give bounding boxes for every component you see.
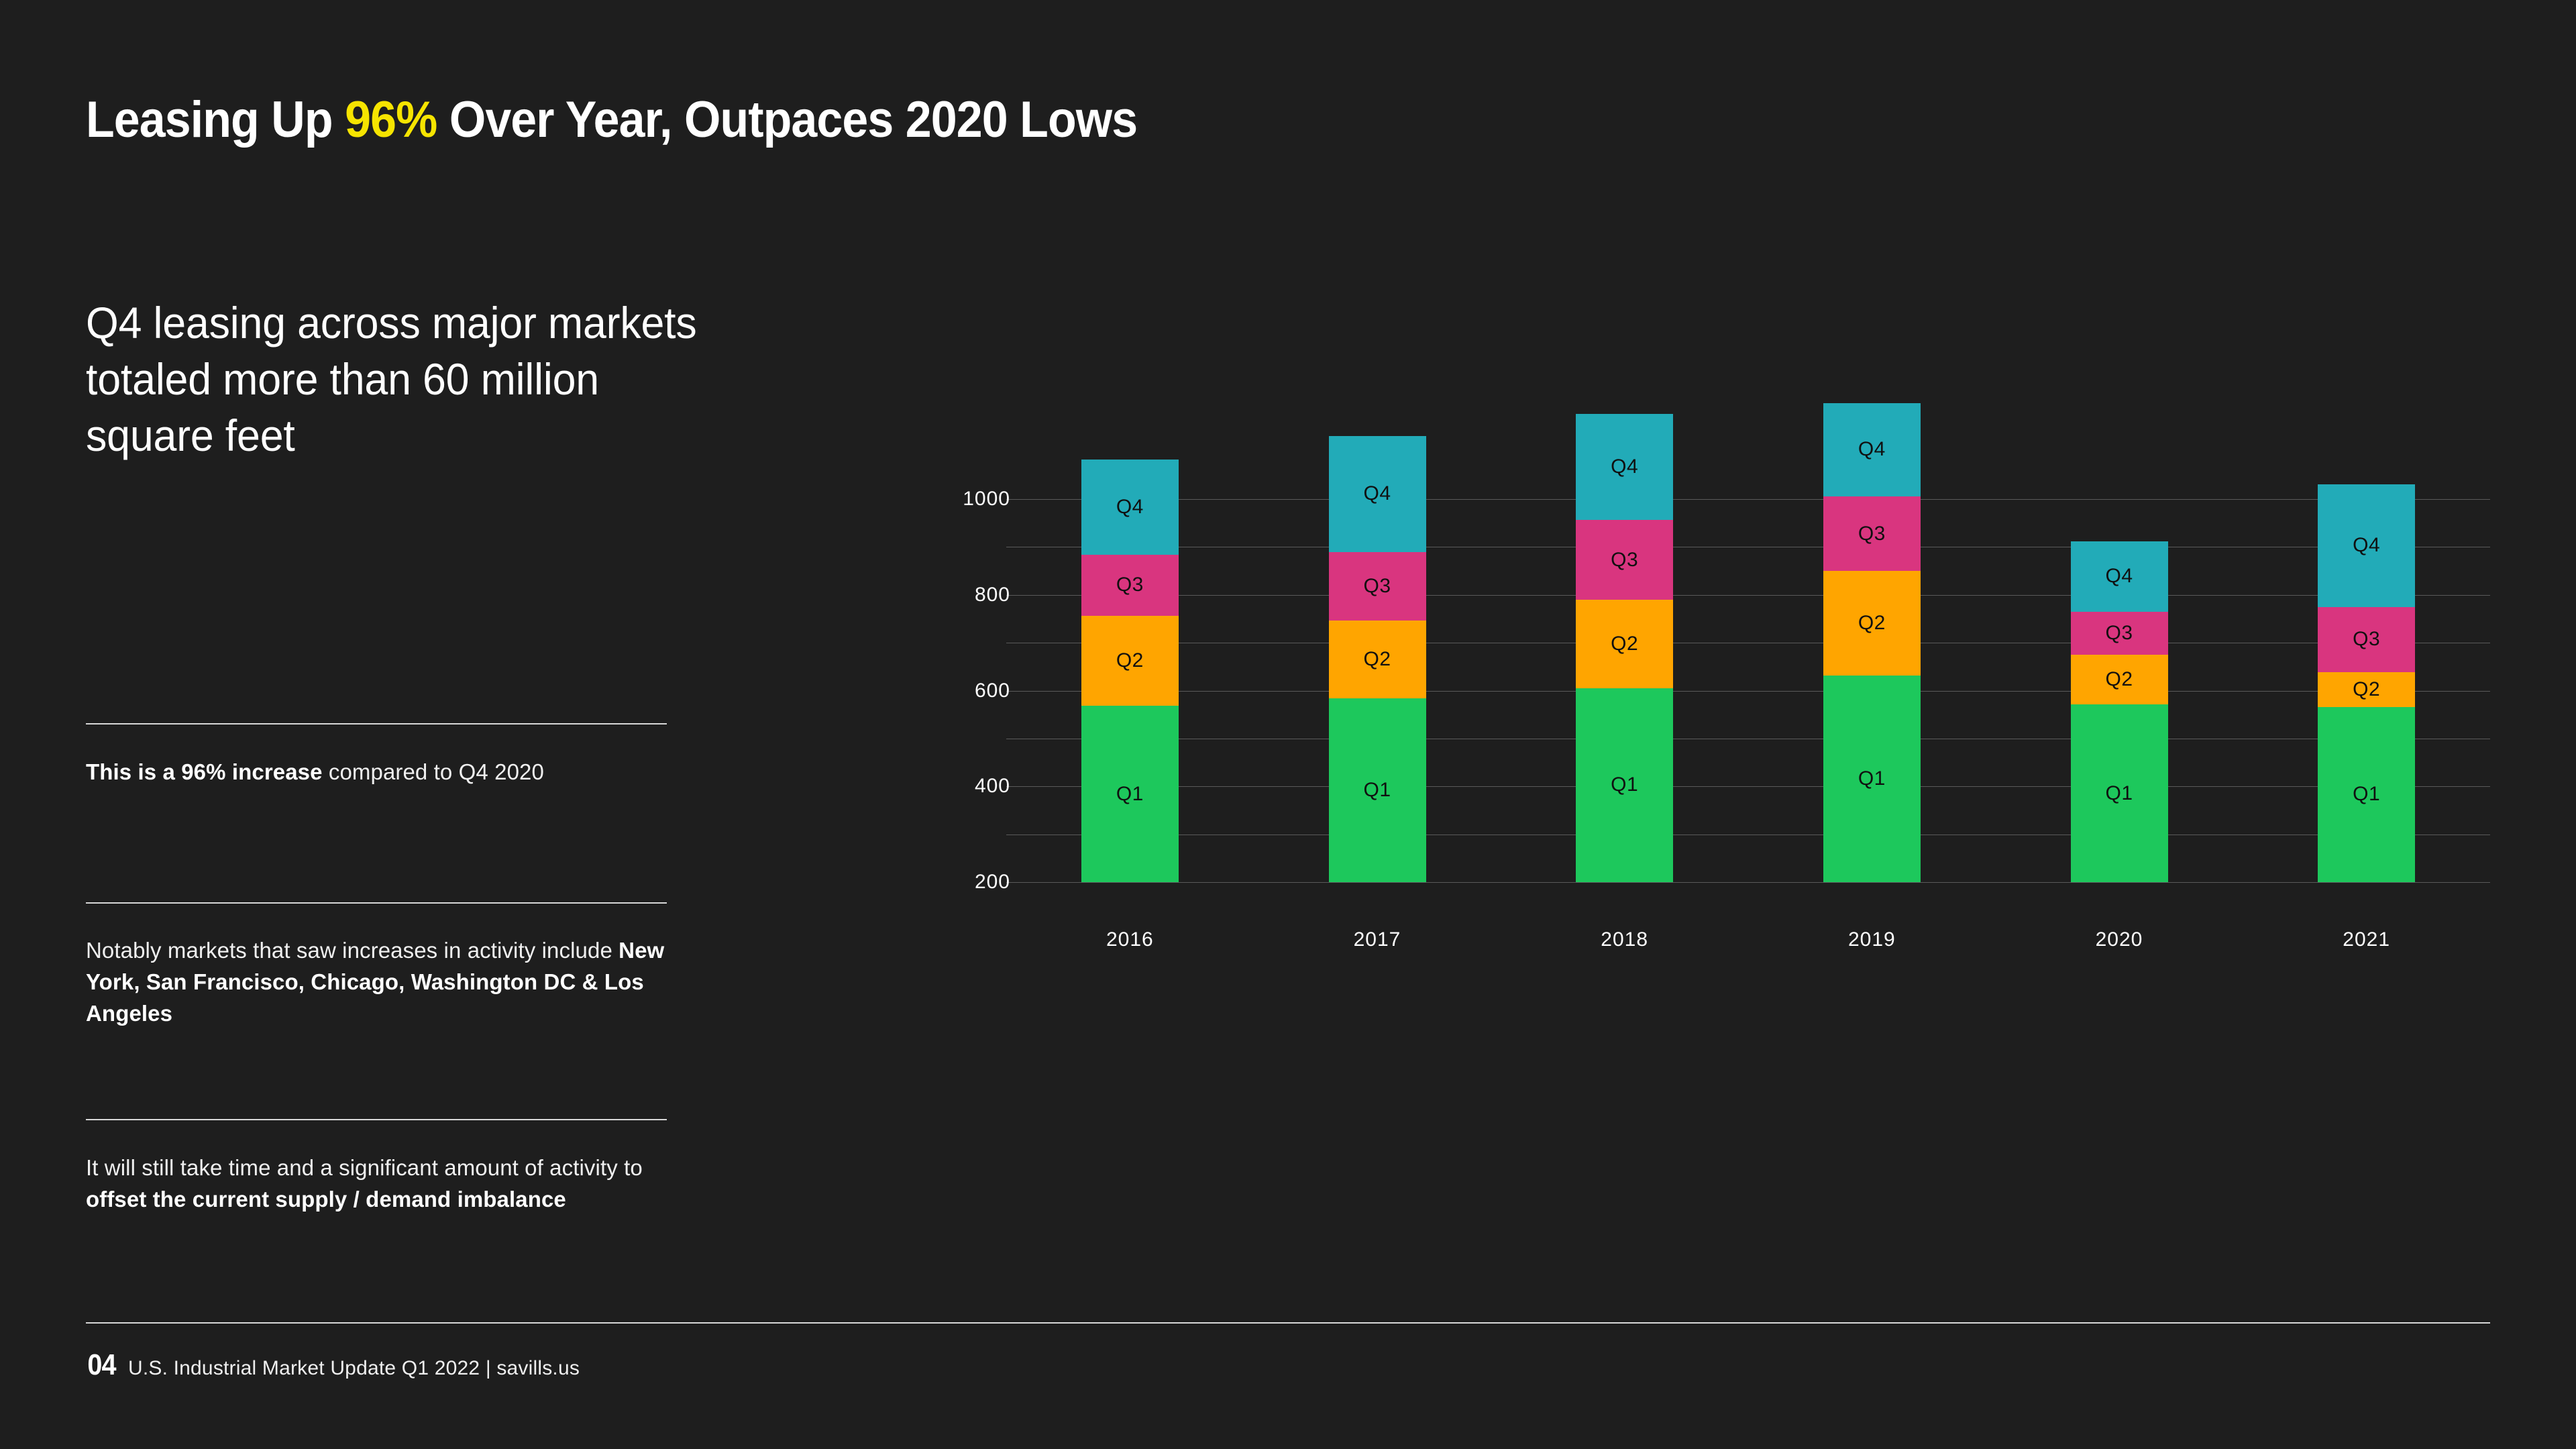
stacked-bar-chart: Q1Q2Q3Q42016Q1Q2Q3Q42017Q1Q2Q3Q42018Q1Q2… (892, 470, 2502, 1275)
page-title: Leasing Up 96% Over Year, Outpaces 2020 … (86, 91, 1137, 149)
slide-canvas: Leasing Up 96% Over Year, Outpaces 2020 … (0, 0, 2576, 1449)
bar-segment-2018-Q2[interactable]: Q2 (1576, 600, 1673, 688)
note-3-bold: offset the current supply / demand imbal… (86, 1187, 566, 1212)
y-axis-tick-400: 400 (910, 775, 1010, 798)
bar-group-2017[interactable]: Q1Q2Q3Q4 (1329, 499, 1426, 882)
note-1-text: This is a 96% increase compared to Q4 20… (86, 757, 676, 788)
bar-segment-2018-Q1[interactable]: Q1 (1576, 688, 1673, 882)
bar-segment-2020-Q4[interactable]: Q4 (2071, 541, 2168, 612)
footer-divider (86, 1322, 2490, 1324)
bar-segment-2017-Q2[interactable]: Q2 (1329, 621, 1426, 698)
left-column: Q4 leasing across major markets totaled … (86, 295, 757, 464)
bar-segment-2019-Q2[interactable]: Q2 (1823, 571, 1921, 676)
x-axis-label-2016: 2016 (1081, 928, 1179, 951)
page-number: 04 (87, 1348, 115, 1382)
bar-segment-2017-Q3[interactable]: Q3 (1329, 552, 1426, 621)
bar-segment-2020-Q3[interactable]: Q3 (2071, 612, 2168, 655)
bar-group-2020[interactable]: Q1Q2Q3Q4 (2071, 499, 2168, 882)
note-1: This is a 96% increase compared to Q4 20… (86, 757, 676, 788)
x-axis-label-2019: 2019 (1823, 928, 1921, 951)
bar-segment-2016-Q3[interactable]: Q3 (1081, 555, 1179, 616)
y-axis-tick-600: 600 (910, 680, 1010, 702)
bar-segment-2020-Q2[interactable]: Q2 (2071, 655, 2168, 704)
note-2: Notably markets that saw increases in ac… (86, 935, 676, 1030)
note-3-plain: It will still take time and a significan… (86, 1155, 643, 1180)
y-axis-tick-1000: 1000 (910, 488, 1010, 511)
footer-caption: U.S. Industrial Market Update Q1 2022 | … (128, 1357, 580, 1380)
bar-segment-2016-Q2[interactable]: Q2 (1081, 616, 1179, 706)
divider-2 (86, 902, 667, 904)
bar-segment-2018-Q4[interactable]: Q4 (1576, 414, 1673, 520)
bar-segment-2017-Q1[interactable]: Q1 (1329, 698, 1426, 882)
note-3-text: It will still take time and a significan… (86, 1152, 676, 1216)
bar-segment-2021-Q2[interactable]: Q2 (2318, 672, 2415, 706)
bar-group-2019[interactable]: Q1Q2Q3Q4 (1823, 499, 1921, 882)
bar-segment-2018-Q3[interactable]: Q3 (1576, 520, 1673, 599)
bar-group-2016[interactable]: Q1Q2Q3Q4 (1081, 499, 1179, 882)
bar-segment-2017-Q4[interactable]: Q4 (1329, 436, 1426, 552)
bar-segment-2019-Q4[interactable]: Q4 (1823, 403, 1921, 497)
x-axis-label-2017: 2017 (1329, 928, 1426, 951)
lead-statement: Q4 leasing across major markets totaled … (86, 295, 723, 464)
bar-segment-2021-Q1[interactable]: Q1 (2318, 707, 2415, 882)
bar-group-2018[interactable]: Q1Q2Q3Q4 (1576, 499, 1673, 882)
bar-segment-2021-Q4[interactable]: Q4 (2318, 484, 2415, 607)
footer: 04 U.S. Industrial Market Update Q1 2022… (86, 1348, 580, 1382)
x-axis-label-2021: 2021 (2318, 928, 2415, 951)
bar-segment-2020-Q1[interactable]: Q1 (2071, 704, 2168, 882)
bar-segment-2019-Q1[interactable]: Q1 (1823, 676, 1921, 882)
note-3: It will still take time and a significan… (86, 1152, 676, 1216)
chart-bars: Q1Q2Q3Q42016Q1Q2Q3Q42017Q1Q2Q3Q42018Q1Q2… (1006, 499, 2490, 882)
bar-segment-2021-Q3[interactable]: Q3 (2318, 607, 2415, 673)
title-highlight: 96% (345, 91, 437, 148)
note-1-bold: This is a 96% increase (86, 759, 323, 784)
x-axis-label-2018: 2018 (1576, 928, 1673, 951)
gridline-200 (1006, 882, 2490, 883)
divider-3 (86, 1119, 667, 1120)
divider-1 (86, 723, 667, 724)
y-axis-tick-200: 200 (910, 871, 1010, 894)
title-part-1: Leasing Up (86, 91, 345, 148)
bar-segment-2019-Q3[interactable]: Q3 (1823, 496, 1921, 571)
x-axis-label-2020: 2020 (2071, 928, 2168, 951)
bar-segment-2016-Q4[interactable]: Q4 (1081, 460, 1179, 555)
title-part-2: Over Year, Outpaces 2020 Lows (437, 91, 1137, 148)
note-2-text: Notably markets that saw increases in ac… (86, 935, 676, 1030)
note-1-plain: compared to Q4 2020 (323, 759, 544, 784)
bar-group-2021[interactable]: Q1Q2Q3Q4 (2318, 499, 2415, 882)
note-2-plain: Notably markets that saw increases in ac… (86, 938, 619, 963)
y-axis-tick-800: 800 (910, 584, 1010, 606)
bar-segment-2016-Q1[interactable]: Q1 (1081, 706, 1179, 882)
